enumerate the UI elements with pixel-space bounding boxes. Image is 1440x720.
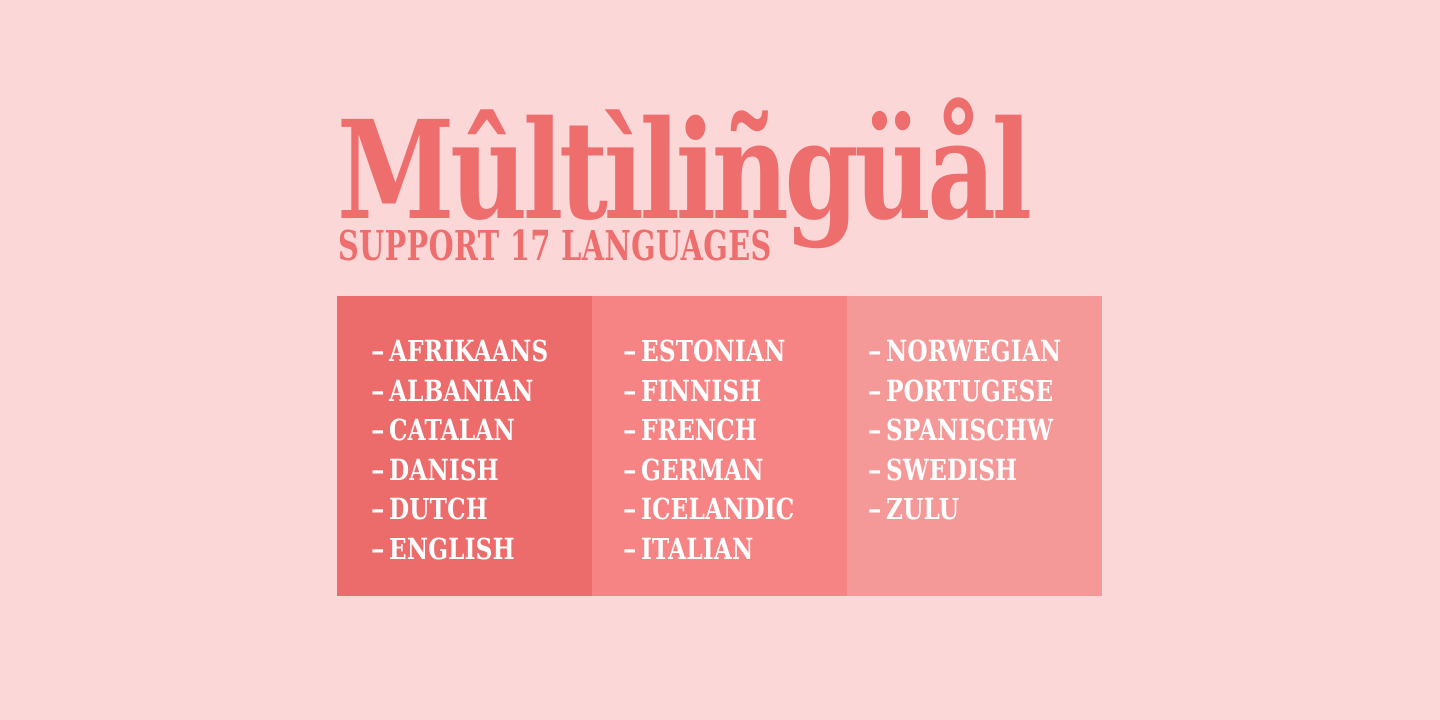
list-item: – PORTUGESE xyxy=(868,372,1102,412)
language-label: FRENCH xyxy=(641,411,757,451)
language-panels: – AFRIKAANS – ALBANIAN – CATALAN – DANIS… xyxy=(337,296,1102,596)
languages-column-2: – ESTONIAN – FINNISH – FRENCH – GERMAN – xyxy=(592,296,847,596)
dash-bullet-icon: – xyxy=(371,411,385,451)
dash-bullet-icon: – xyxy=(371,490,385,530)
language-label: FINNISH xyxy=(641,372,761,412)
list-item: – CATALAN xyxy=(371,411,592,451)
dash-bullet-icon: – xyxy=(868,372,882,412)
languages-column-1: – AFRIKAANS – ALBANIAN – CATALAN – DANIS… xyxy=(337,296,592,596)
page-subtitle: SUPPORT 17 LANGUAGES xyxy=(338,226,772,267)
list-item: – FRENCH xyxy=(623,411,847,451)
language-label: ZULU xyxy=(886,490,959,530)
list-item: – ESTONIAN xyxy=(623,332,847,372)
language-label: ALBANIAN xyxy=(389,372,533,412)
dash-bullet-icon: – xyxy=(623,451,637,491)
list-item: – AFRIKAANS xyxy=(371,332,592,372)
dash-bullet-icon: – xyxy=(371,372,385,412)
dash-bullet-icon: – xyxy=(371,451,385,491)
list-item: – DANISH xyxy=(371,451,592,491)
language-label: AFRIKAANS xyxy=(389,332,548,372)
dash-bullet-icon: – xyxy=(868,490,882,530)
list-item: – ENGLISH xyxy=(371,530,592,570)
list-item: – ICELANDIC xyxy=(623,490,847,530)
dash-bullet-icon: – xyxy=(868,411,882,451)
language-label: CATALAN xyxy=(389,411,515,451)
dash-bullet-icon: – xyxy=(623,372,637,412)
language-list-3: – NORWEGIAN – PORTUGESE – SPANISCHW – SW… xyxy=(847,332,1102,530)
headline-block: Mûltìliñgüål SUPPORT 17 LANGUAGES xyxy=(337,96,1127,276)
language-label: PORTUGESE xyxy=(886,372,1053,412)
language-label: ESTONIAN xyxy=(641,332,785,372)
dash-bullet-icon: – xyxy=(623,332,637,372)
list-item: – NORWEGIAN xyxy=(868,332,1102,372)
language-label: DANISH xyxy=(389,451,499,491)
dash-bullet-icon: – xyxy=(868,332,882,372)
dash-bullet-icon: – xyxy=(623,530,637,570)
language-label: DUTCH xyxy=(389,490,488,530)
list-item: – DUTCH xyxy=(371,490,592,530)
dash-bullet-icon: – xyxy=(371,530,385,570)
language-label: ENGLISH xyxy=(389,530,515,570)
language-list-1: – AFRIKAANS – ALBANIAN – CATALAN – DANIS… xyxy=(337,332,592,569)
language-label: GERMAN xyxy=(641,451,764,491)
list-item: – ITALIAN xyxy=(623,530,847,570)
language-label: SPANISCHW xyxy=(886,411,1053,451)
list-item: – SPANISCHW xyxy=(868,411,1102,451)
list-item: – ZULU xyxy=(868,490,1102,530)
language-label: NORWEGIAN xyxy=(886,332,1061,372)
list-item: – ALBANIAN xyxy=(371,372,592,412)
language-label: SWEDISH xyxy=(886,451,1017,491)
languages-column-3: – NORWEGIAN – PORTUGESE – SPANISCHW – SW… xyxy=(847,296,1102,596)
dash-bullet-icon: – xyxy=(623,490,637,530)
language-list-2: – ESTONIAN – FINNISH – FRENCH – GERMAN – xyxy=(592,332,847,569)
font-specimen-poster: Mûltìliñgüål SUPPORT 17 LANGUAGES – AFRI… xyxy=(0,0,1440,720)
language-label: ICELANDIC xyxy=(641,490,794,530)
list-item: – GERMAN xyxy=(623,451,847,491)
dash-bullet-icon: – xyxy=(868,451,882,491)
list-item: – FINNISH xyxy=(623,372,847,412)
dash-bullet-icon: – xyxy=(623,411,637,451)
dash-bullet-icon: – xyxy=(371,332,385,372)
language-label: ITALIAN xyxy=(641,530,753,570)
list-item: – SWEDISH xyxy=(868,451,1102,491)
